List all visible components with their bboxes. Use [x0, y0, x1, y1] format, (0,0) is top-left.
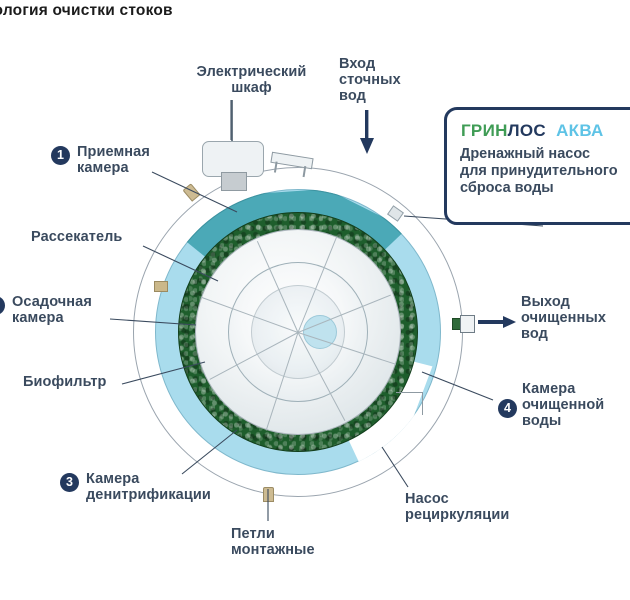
- badge-receiving-chamber: 1: [51, 146, 70, 165]
- label-settling-chamber: Осадочнаякамера: [12, 294, 132, 326]
- inlet-arrow: [360, 110, 374, 154]
- label-electrical-cabinet: Электрическийшкаф: [184, 64, 319, 96]
- brand-part-los: ЛОС: [508, 121, 546, 140]
- badge-denitrification-chamber: 3: [60, 473, 79, 492]
- diagram-canvas: нология очистки стоков: [0, 0, 630, 600]
- label-recirculation-pump: Насосрециркуляции: [405, 491, 555, 523]
- label-receiving-chamber: Приемнаякамера: [77, 144, 187, 176]
- brand-logo: ГРИНЛОС АКВА: [461, 121, 604, 141]
- label-denitrification-chamber: Камераденитрификации: [86, 471, 261, 503]
- brand-part-akva: АКВА: [556, 121, 604, 140]
- label-outlet: Выходочищенныхвод: [521, 294, 630, 343]
- callout-description: Дренажный насосдля принудительногосброса…: [460, 146, 630, 196]
- label-inlet: Входсточныхвод: [339, 56, 419, 105]
- outlet-arrow: [478, 316, 516, 328]
- label-clean-water-chamber: Камераочищеннойводы: [522, 381, 630, 430]
- label-biofilter: Биофильтр: [23, 374, 163, 390]
- label-splitter: Рассекатель: [31, 229, 191, 245]
- brand-part-grin: ГРИН: [461, 121, 508, 140]
- badge-clean-water-chamber: 4: [498, 399, 517, 418]
- label-mounting-loops: Петлимонтажные: [231, 526, 361, 558]
- drainage-pump-callout: ГРИНЛОС АКВА Дренажный насосдля принудит…: [444, 107, 630, 225]
